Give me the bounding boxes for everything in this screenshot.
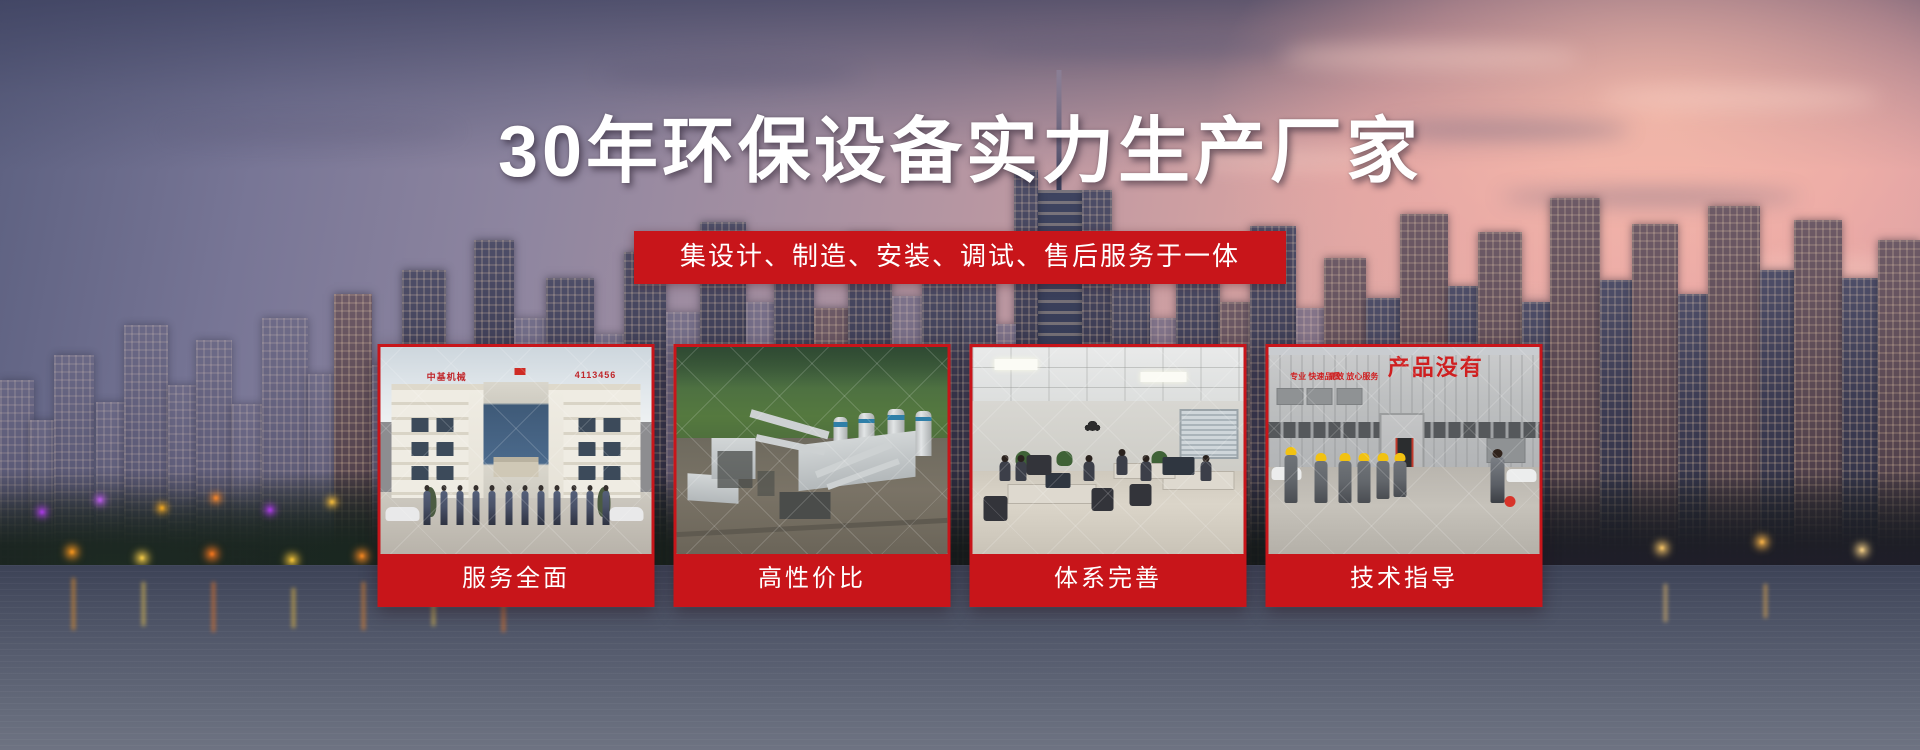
flag-icon [515,368,526,375]
wall-logo [1075,411,1109,435]
feature-card-row: 中基机械 4113456 服务全面 [378,344,1543,607]
card-caption-bar: 体系完善 [973,554,1244,604]
card-label: 体系完善 [1054,567,1162,591]
page-title: 30年环保设备实力生产厂家 [0,116,1920,188]
factory-slogan-2: 高效 放心服务 [1328,372,1378,381]
feature-card-value[interactable]: 高性价比 [674,344,951,607]
card-image-factory-workers: 产品没有 专业 快速品质 高效 放心服务 [1269,347,1540,554]
card-caption-bar: 技术指导 [1269,554,1540,604]
card-label: 服务全面 [462,567,570,591]
subtitle-text: 集设计、制造、安装、调试、售后服务于一体 [680,240,1240,273]
card-image-office-interior [973,347,1244,554]
window-blinds [1180,409,1238,459]
card-image-office-building: 中基机械 4113456 [381,347,652,554]
feature-card-service[interactable]: 中基机械 4113456 服务全面 [378,344,655,607]
card-image-aerial-plant [677,347,948,554]
card-caption-bar: 高性价比 [677,554,948,604]
factory-sign-text: 产品没有 [1388,357,1484,379]
building-phone-text: 4113456 [575,370,617,380]
card-label: 高性价比 [758,567,866,591]
card-label: 技术指导 [1350,567,1458,591]
building-sign-text: 中基机械 [427,370,467,383]
feature-card-system[interactable]: 体系完善 [970,344,1247,607]
card-caption-bar: 服务全面 [381,554,652,604]
hero-banner: 30年环保设备实力生产厂家 集设计、制造、安装、调试、售后服务于一体 [0,0,1920,750]
subtitle-banner: 集设计、制造、安装、调试、售后服务于一体 [634,231,1286,284]
feature-card-guidance[interactable]: 产品没有 专业 快速品质 高效 放心服务 [1266,344,1543,607]
